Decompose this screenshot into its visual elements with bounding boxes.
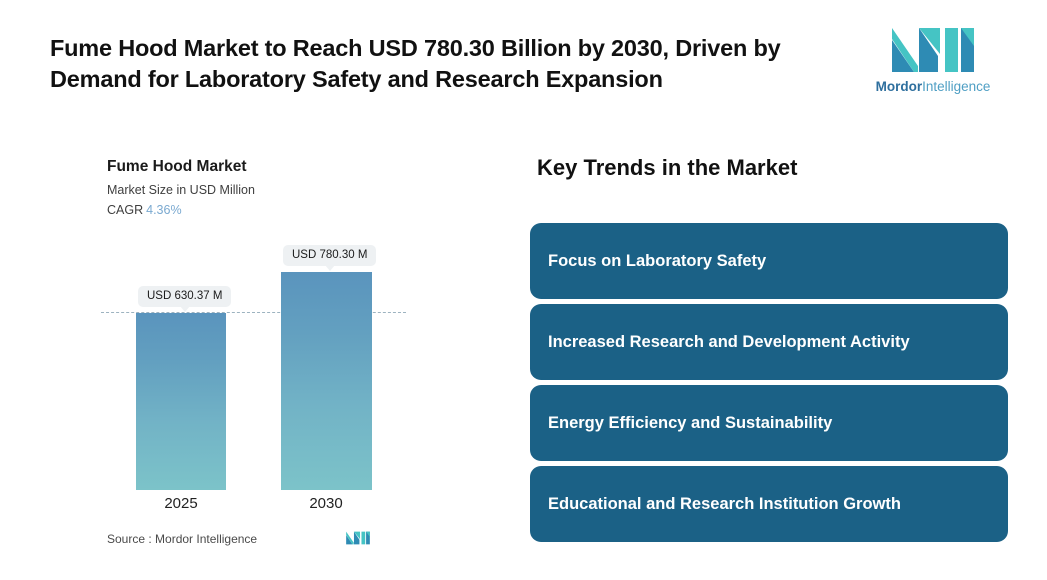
trends-panel: Key Trends in the Market Focus on Labora…: [530, 140, 1008, 560]
bar-2030: [281, 272, 372, 490]
source-text: Source : Mordor Intelligence: [107, 532, 257, 546]
brand-name-bold: Mordor: [876, 79, 923, 94]
source-name: Mordor Intelligence: [155, 532, 257, 546]
infographic-page: Fume Hood Market to Reach USD 780.30 Bil…: [0, 0, 1047, 580]
brand-name-light: Intelligence: [922, 79, 990, 94]
trend-card-label: Increased Research and Development Activ…: [548, 330, 910, 354]
trend-card-label: Educational and Research Institution Gro…: [548, 492, 901, 516]
data-label-2030: USD 780.30 M: [283, 245, 376, 266]
trend-card[interactable]: Increased Research and Development Activ…: [530, 304, 1008, 380]
trend-card[interactable]: Focus on Laboratory Safety: [530, 223, 1008, 299]
trend-card[interactable]: Energy Efficiency and Sustainability: [530, 385, 1008, 461]
bar-2025: [136, 313, 226, 490]
mordor-mi-logo-icon: [888, 26, 978, 74]
trend-card-label: Focus on Laboratory Safety: [548, 249, 766, 273]
brand-wordmark: MordorIntelligence: [872, 79, 994, 95]
trend-card[interactable]: Educational and Research Institution Gro…: [530, 466, 1008, 542]
brand-logo: MordorIntelligence: [872, 26, 994, 102]
trends-heading: Key Trends in the Market: [537, 155, 797, 181]
source-label: Source :: [107, 532, 152, 546]
x-axis-label-2025: 2025: [126, 495, 236, 512]
x-axis-label-2030: 2030: [271, 495, 381, 512]
trend-card-label: Energy Efficiency and Sustainability: [548, 411, 832, 435]
bar-chart-plot-area: USD 630.37 M USD 780.30 M 2025 2030: [0, 140, 480, 560]
mordor-mi-mark-icon: [345, 530, 371, 546]
data-label-2025: USD 630.37 M: [138, 286, 231, 307]
page-title: Fume Hood Market to Reach USD 780.30 Bil…: [50, 33, 850, 95]
chart-panel: Fume Hood Market Market Size in USD Mill…: [0, 140, 480, 560]
source-row: Source : Mordor Intelligence: [107, 530, 407, 554]
